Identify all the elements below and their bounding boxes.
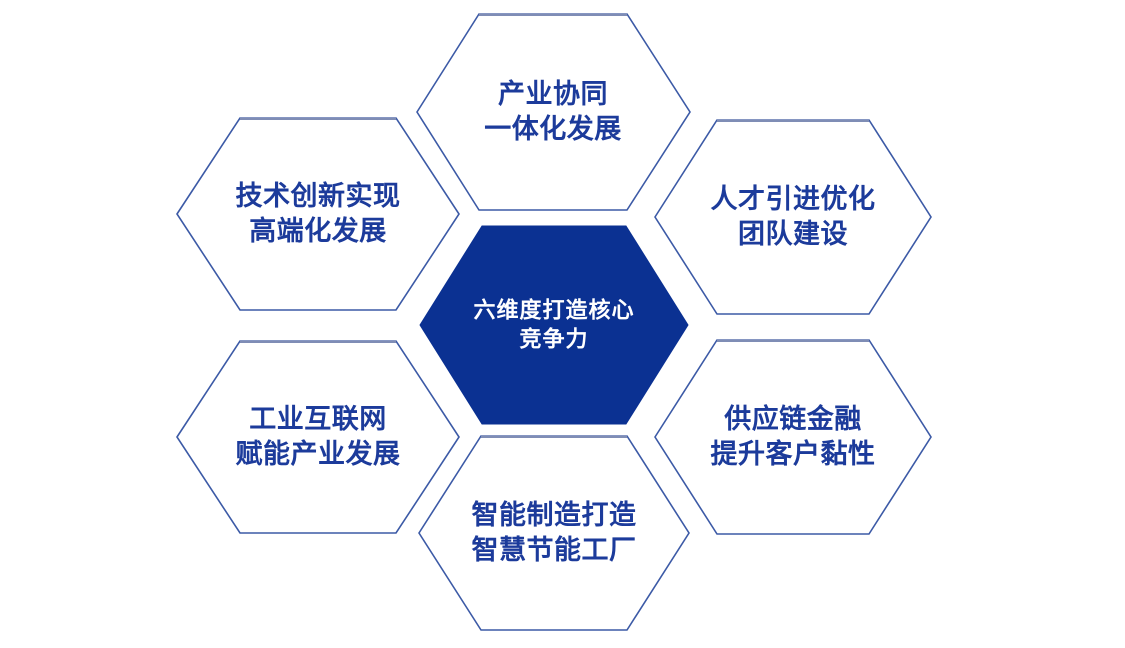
hexagon-lower-left[interactable]	[177, 341, 459, 533]
hexagon-center-core[interactable]	[420, 226, 688, 424]
hexagon-top[interactable]	[417, 14, 690, 210]
diagram-canvas: 产业协同 一体化发展 技术创新实现 高端化发展 人才引进优化 团队建设 供应链金…	[0, 0, 1125, 648]
hexagon-bottom[interactable]	[419, 436, 689, 630]
hexagon-upper-left[interactable]	[177, 118, 459, 310]
hexagon-lower-right[interactable]	[655, 340, 931, 534]
hexagon-cluster-svg	[0, 0, 1125, 648]
hexagon-upper-right[interactable]	[655, 120, 931, 314]
